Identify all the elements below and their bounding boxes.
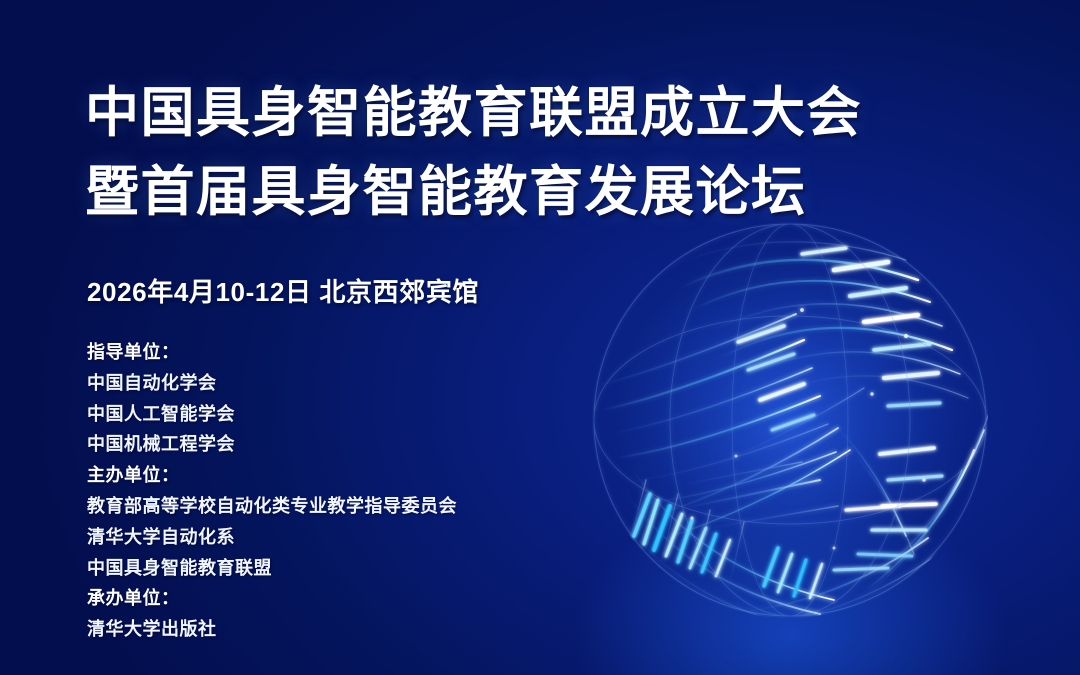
organizer-item: 中国自动化学会 (87, 368, 457, 399)
poster-text-column: 中国具身智能教育联盟成立大会 暨首届具身智能教育发展论坛 2026年4月10-1… (85, 0, 725, 675)
organizer-list: 指导单位： 中国自动化学会 中国人工智能学会 中国机械工程学会 主办单位： 教育… (87, 337, 457, 645)
organizer-item: 教育部高等学校自动化类专业教学指导委员会 (87, 491, 457, 522)
organizer-item: 中国机械工程学会 (87, 429, 457, 460)
title-line-1: 中国具身智能教育联盟成立大会 (85, 74, 862, 153)
title-line-2: 暨首届具身智能教育发展论坛 (85, 153, 862, 232)
organizer-item: 中国人工智能学会 (87, 399, 457, 430)
conference-poster: 中国具身智能教育联盟成立大会 暨首届具身智能教育发展论坛 2026年4月10-1… (0, 0, 1080, 675)
organizer-item: 中国具身智能教育联盟 (87, 553, 457, 584)
organizer-heading-organizer: 承办单位： (87, 583, 457, 614)
organizer-heading-host: 主办单位： (87, 460, 457, 491)
page-title: 中国具身智能教育联盟成立大会 暨首届具身智能教育发展论坛 (85, 74, 862, 232)
organizer-heading-guidance: 指导单位： (87, 337, 457, 368)
organizer-item: 清华大学自动化系 (87, 522, 457, 553)
date-and-venue: 2026年4月10-12日 北京西郊宾馆 (87, 272, 479, 309)
organizer-item: 清华大学出版社 (87, 614, 457, 645)
